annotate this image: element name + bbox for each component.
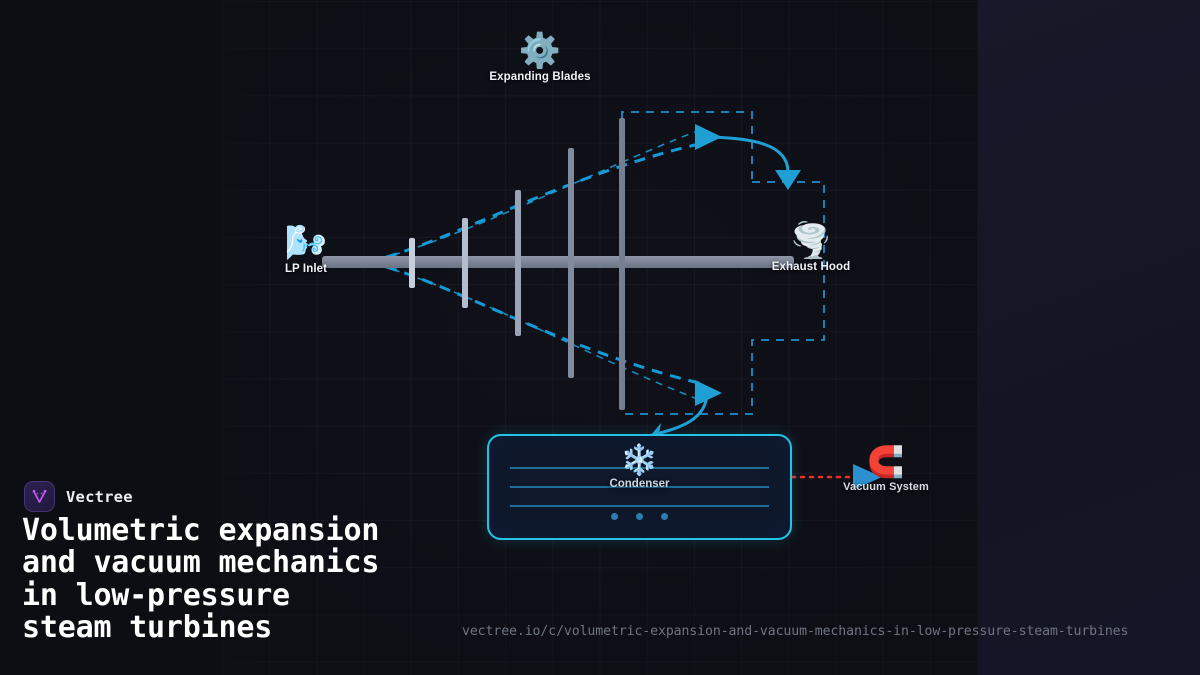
condenser-label: Condenser [489,478,790,490]
status-dot [661,513,668,520]
status-dot [636,513,643,520]
routing-path-exhaust-loop [622,182,824,414]
condenser-card[interactable]: ❄️ Condenser [487,434,792,540]
snowflake-icon: ❄️ [489,445,790,477]
blade-3 [515,190,521,336]
page-title: Volumetric expansion and vacuum mechanic… [22,515,492,645]
brand: Vectree [24,481,133,512]
brand-name: Vectree [66,488,133,506]
blade-2 [462,218,468,308]
blade-4 [568,148,574,378]
status-dot [611,513,618,520]
steam-curve-upper [700,137,788,172]
vacuum-link-arrow [853,464,882,490]
vectree-v-logo-icon [24,481,55,512]
condenser-status-dots [489,513,790,520]
canvas-stage: ⚙️ Expanding Blades 🌬️ LP Inlet 🌪️ Exhau… [0,0,1200,675]
coil-line [510,505,769,507]
steam-curve-upper-head [775,170,801,190]
blade-1 [409,238,415,288]
share-url: vectree.io/c/volumetric-expansion-and-va… [462,624,1128,639]
flow-arrow-bottom [695,380,722,406]
rotor-shaft [322,256,794,268]
blade-5 [619,118,625,410]
routing-path-upper [622,112,752,182]
condenser-center: ❄️ Condenser [489,445,790,490]
